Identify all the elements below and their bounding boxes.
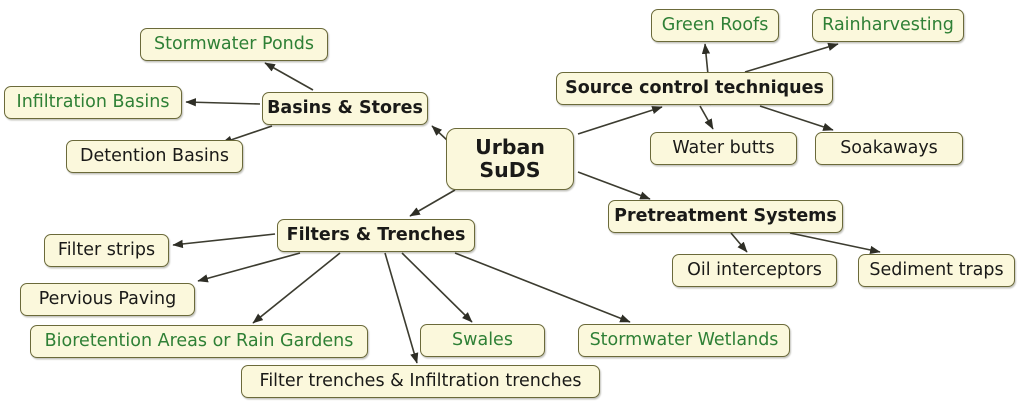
node-label-stormwater-wetlands: Stormwater Wetlands xyxy=(590,331,779,349)
node-label-rainharvesting: Rainharvesting xyxy=(822,16,954,34)
edge-pretreatment-systems-to-sediment-traps xyxy=(790,233,880,252)
edge-filters-trenches-to-filter-strips xyxy=(173,234,275,245)
node-oil-interceptors[interactable]: Oil interceptors xyxy=(672,254,837,287)
node-label-stormwater-ponds: Stormwater Ponds xyxy=(154,35,314,53)
node-label-filter-trenches: Filter trenches & Infiltration trenches xyxy=(260,372,582,390)
node-filter-trenches[interactable]: Filter trenches & Infiltration trenches xyxy=(241,365,600,398)
node-detention-basins[interactable]: Detention Basins xyxy=(66,140,243,173)
node-label-pervious-paving: Pervious Paving xyxy=(39,290,177,308)
node-sediment-traps[interactable]: Sediment traps xyxy=(858,254,1015,287)
node-label-water-butts: Water butts xyxy=(672,139,774,157)
edge-urban-suds-to-source-control xyxy=(578,107,662,134)
node-swales[interactable]: Swales xyxy=(420,324,545,357)
node-filters-trenches[interactable]: Filters & Trenches xyxy=(277,219,475,252)
node-label-source-control: Source control techniques xyxy=(565,79,824,97)
edge-basins-stores-to-stormwater-ponds xyxy=(265,63,313,90)
node-stormwater-ponds[interactable]: Stormwater Ponds xyxy=(140,28,328,61)
edge-urban-suds-to-pretreatment-systems xyxy=(578,172,650,199)
edge-source-control-to-water-butts xyxy=(700,106,713,129)
edge-source-control-to-rainharvesting xyxy=(745,44,838,72)
node-label-green-roofs: Green Roofs xyxy=(662,16,769,34)
edge-urban-suds-to-filters-trenches xyxy=(410,190,455,216)
edge-filters-trenches-to-pervious-paving xyxy=(198,253,300,281)
node-bioretention-areas[interactable]: Bioretention Areas or Rain Gardens xyxy=(30,325,368,358)
edge-pretreatment-systems-to-oil-interceptors xyxy=(731,233,747,252)
edge-filters-trenches-to-bioretention-areas xyxy=(253,253,340,323)
node-label-filters-trenches: Filters & Trenches xyxy=(287,226,466,244)
node-rainharvesting[interactable]: Rainharvesting xyxy=(812,9,964,42)
node-filter-strips[interactable]: Filter strips xyxy=(44,234,169,267)
node-label-filter-strips: Filter strips xyxy=(58,241,155,259)
node-label-urban-suds-line2: SuDS xyxy=(479,159,540,182)
node-label-swales: Swales xyxy=(452,331,513,349)
node-pretreatment-systems[interactable]: Pretreatment Systems xyxy=(608,200,843,233)
node-source-control[interactable]: Source control techniques xyxy=(556,72,833,105)
node-label-sediment-traps: Sediment traps xyxy=(869,261,1003,279)
node-infiltration-basins[interactable]: Infiltration Basins xyxy=(4,86,182,119)
node-soakaways[interactable]: Soakaways xyxy=(815,132,963,165)
node-label-basins-stores: Basins & Stores xyxy=(267,99,423,117)
node-basins-stores[interactable]: Basins & Stores xyxy=(262,92,428,125)
node-urban-suds[interactable]: UrbanSuDS xyxy=(446,128,574,190)
edge-filters-trenches-to-stormwater-wetlands xyxy=(455,253,630,322)
edge-filters-trenches-to-filter-trenches xyxy=(385,253,417,363)
node-label-detention-basins: Detention Basins xyxy=(80,147,229,165)
edge-source-control-to-soakaways xyxy=(760,106,833,130)
node-label-oil-interceptors: Oil interceptors xyxy=(687,261,822,279)
node-label-infiltration-basins: Infiltration Basins xyxy=(17,93,170,111)
edge-basins-stores-to-infiltration-basins xyxy=(186,102,260,104)
node-label-bioretention-areas: Bioretention Areas or Rain Gardens xyxy=(45,332,354,350)
node-pervious-paving[interactable]: Pervious Paving xyxy=(20,283,195,316)
edge-filters-trenches-to-swales xyxy=(402,253,472,322)
node-label-urban-suds-line1: Urban xyxy=(475,136,545,159)
node-label-soakaways: Soakaways xyxy=(840,139,938,157)
node-stormwater-wetlands[interactable]: Stormwater Wetlands xyxy=(578,324,790,357)
node-water-butts[interactable]: Water butts xyxy=(650,132,797,165)
mindmap-canvas: UrbanSuDSBasins & StoresStormwater Ponds… xyxy=(0,0,1024,408)
node-label-pretreatment-systems: Pretreatment Systems xyxy=(614,207,837,225)
node-green-roofs[interactable]: Green Roofs xyxy=(651,9,779,42)
